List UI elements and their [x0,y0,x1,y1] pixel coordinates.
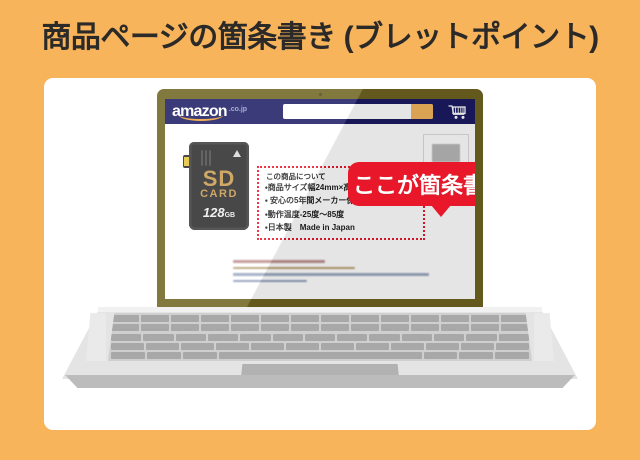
laptop-illustration: amazon .co.jp [44,78,596,430]
sd-card-label-card: CARD [189,189,249,200]
keyboard-row [111,324,529,331]
laptop-keyboard[interactable] [108,313,532,361]
bullet-item: ・動作温度-25度〜85度 [265,211,417,219]
sd-card-capacity-number: 128 [203,205,225,220]
amazon-logo-suffix: .co.jp [229,106,247,113]
search-bar[interactable] [283,104,433,119]
keyboard-row [111,352,529,359]
amazon-logo[interactable]: amazon [172,104,227,120]
content-card: amazon .co.jp [44,78,596,430]
blurred-description-block [233,256,433,282]
product-page-body: SD CARD 128GB [165,124,475,299]
sd-card-arrow-icon [233,150,241,157]
sd-card-pins [201,150,211,166]
webcam-icon [319,93,322,96]
laptop-hinge-lip [98,307,542,312]
laptop-base [62,307,578,392]
blurred-text-line [233,280,307,283]
keyboard-row [111,315,529,322]
callout-bubble: ここが箇条書き！ [348,162,475,206]
search-input[interactable] [283,104,411,119]
laptop-lid: amazon .co.jp [157,89,483,315]
search-button[interactable] [411,104,433,119]
laptop-base-front [62,375,578,388]
bullet-item: ・日本製 Made in Japan [265,224,417,232]
blurred-text-line [233,267,355,270]
laptop-screen: amazon .co.jp [165,99,475,299]
callout-tail-icon [431,205,451,217]
sd-card-capacity: 128GB [189,206,249,219]
keyboard-row [111,343,529,350]
laptop-base-right-edge [534,313,554,361]
callout-text: ここが箇条書き！ [353,168,475,200]
product-image-sd-card[interactable]: SD CARD 128GB [183,142,249,230]
thumbnail-image [432,144,460,162]
page-title: 商品ページの箇条書き (ブレットポイント) [0,12,640,56]
blurred-text-line [233,273,429,276]
sd-card-body: SD CARD 128GB [189,142,249,230]
sd-card-capacity-unit: GB [225,212,236,219]
laptop-base-left-edge [86,313,106,361]
shopping-cart-icon[interactable] [448,104,468,120]
blurred-text-line [233,260,325,263]
amazon-header-bar: amazon .co.jp [165,99,475,124]
sd-card-label-sd: SD [189,168,249,190]
keyboard-row [111,334,529,341]
